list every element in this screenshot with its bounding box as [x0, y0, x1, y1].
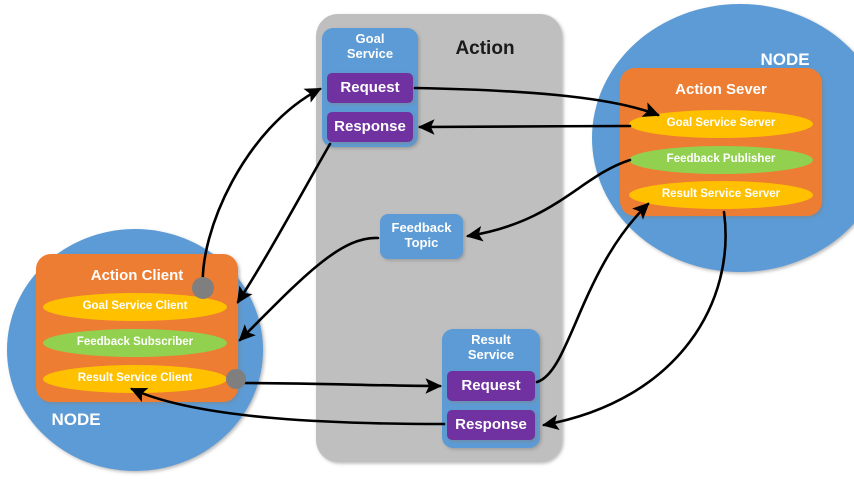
- goal-client-connector-dot: [192, 277, 214, 299]
- feedback-publisher-ellipse: [629, 146, 813, 174]
- feedback-topic-box: [380, 214, 463, 259]
- result-response-box: [447, 410, 535, 440]
- result-service-client-ellipse: [43, 365, 227, 393]
- arrow-goal-server-to-response: [420, 126, 630, 127]
- result-request-box: [447, 371, 535, 401]
- result-client-connector-dot: [226, 369, 246, 389]
- result-service-server-ellipse: [629, 181, 813, 209]
- diagram-canvas: Action Goal Service Request Response Fee…: [0, 0, 854, 480]
- feedback-subscriber-ellipse: [43, 329, 227, 357]
- goal-request-box: [327, 73, 413, 103]
- shapes-layer: [0, 0, 854, 480]
- goal-response-box: [327, 112, 413, 142]
